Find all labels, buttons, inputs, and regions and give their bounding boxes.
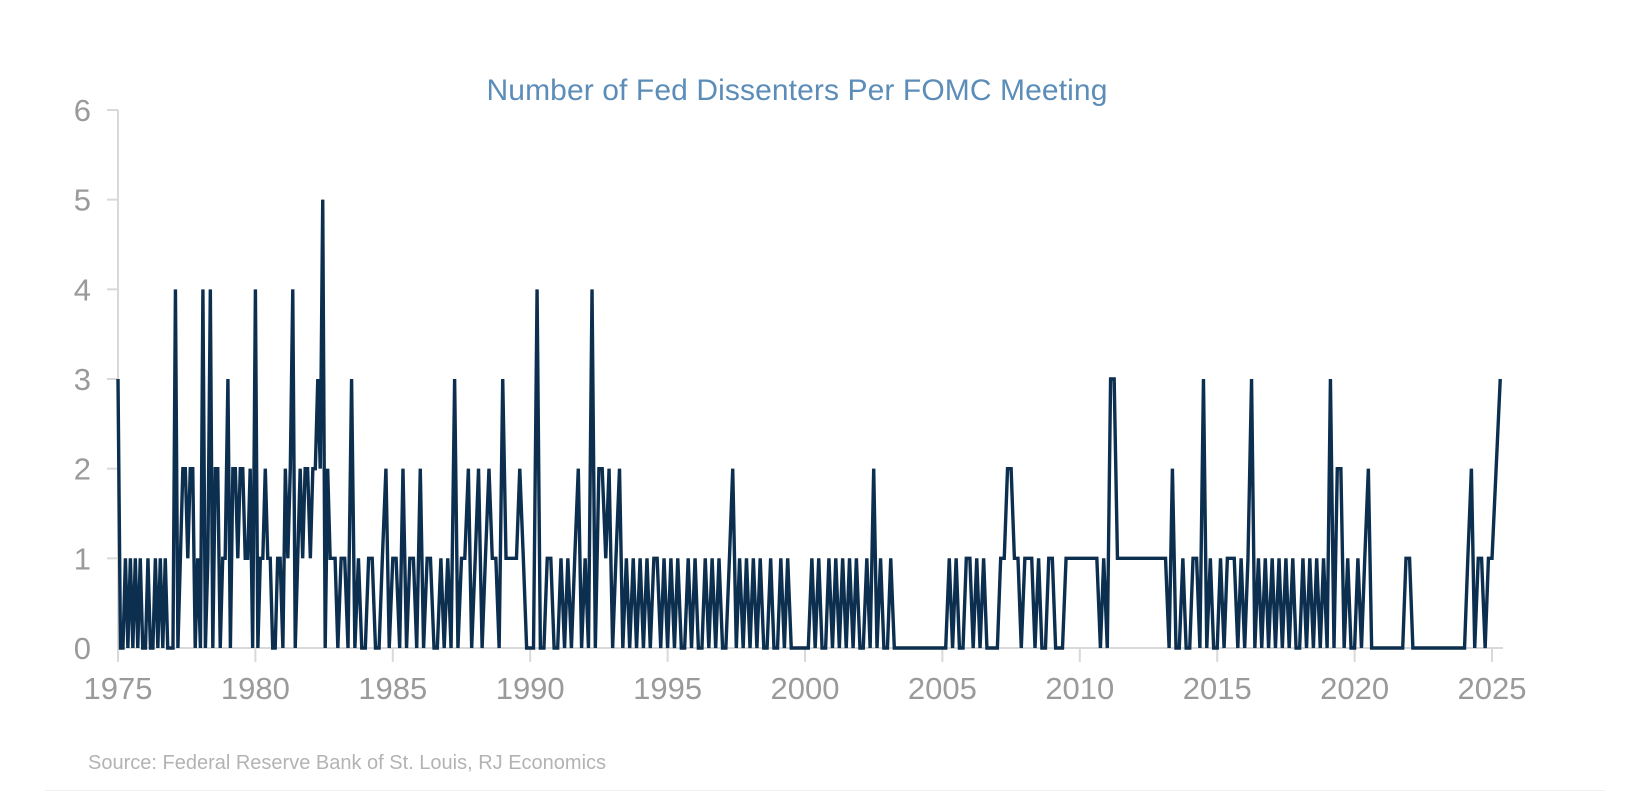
source-note: Source: Federal Reserve Bank of St. Loui… xyxy=(88,752,1568,775)
x-axis-tick-label: 1975 xyxy=(84,671,153,706)
x-axis-tick-label: 2025 xyxy=(1458,671,1527,706)
x-axis-tick-label: 2015 xyxy=(1183,671,1252,706)
y-axis-tick-label: 5 xyxy=(74,183,91,218)
y-axis-tick-label: 4 xyxy=(74,272,91,307)
data-series-group xyxy=(118,200,1500,648)
data-series-line xyxy=(118,200,1500,648)
x-axis-tick-label: 1995 xyxy=(633,671,702,706)
x-axis: 1975198019851990199520002005201020152020… xyxy=(84,648,1527,706)
x-axis-tick-label: 1990 xyxy=(496,671,565,706)
x-axis-tick-label: 1985 xyxy=(358,671,427,706)
y-axis-tick-label: 0 xyxy=(74,631,91,666)
x-axis-tick-label: 2000 xyxy=(771,671,840,706)
x-axis-tick-label: 2020 xyxy=(1320,671,1389,706)
footer-divider xyxy=(45,790,1605,791)
y-axis-tick-label: 3 xyxy=(74,362,91,397)
source-note-wrap: Source: Federal Reserve Bank of St. Loui… xyxy=(88,752,1568,775)
y-axis-tick-label: 2 xyxy=(74,452,91,487)
x-axis-tick-label: 1980 xyxy=(221,671,290,706)
chart-plot-area: 0123456 19751980198519901995200020052010… xyxy=(0,0,1644,806)
x-axis-tick-label: 2005 xyxy=(908,671,977,706)
y-axis-tick-label: 6 xyxy=(74,93,91,128)
y-axis-tick-label: 1 xyxy=(74,541,91,576)
x-axis-tick-label: 2010 xyxy=(1045,671,1114,706)
y-axis: 0123456 xyxy=(74,93,118,666)
chart-container: Number of Fed Dissenters Per FOMC Meetin… xyxy=(0,0,1644,806)
